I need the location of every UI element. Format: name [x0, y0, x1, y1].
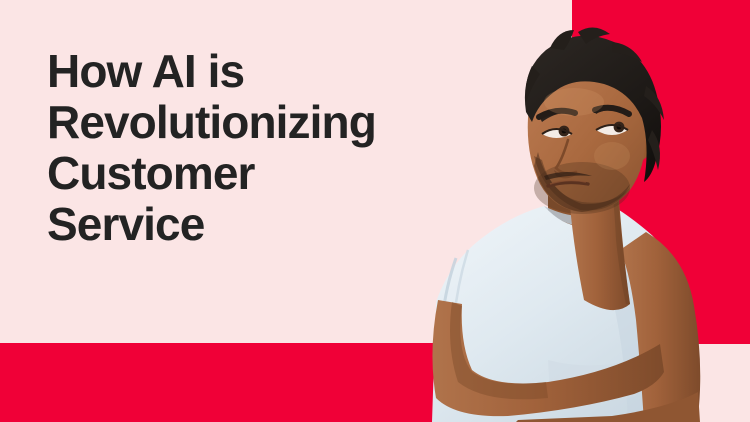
- background-red-bottom-block: [0, 343, 697, 422]
- article-banner: How AI is Revolutionizing Customer Servi…: [0, 0, 750, 422]
- background-red-right-block: [572, 0, 750, 344]
- banner-headline: How AI is Revolutionizing Customer Servi…: [47, 46, 517, 250]
